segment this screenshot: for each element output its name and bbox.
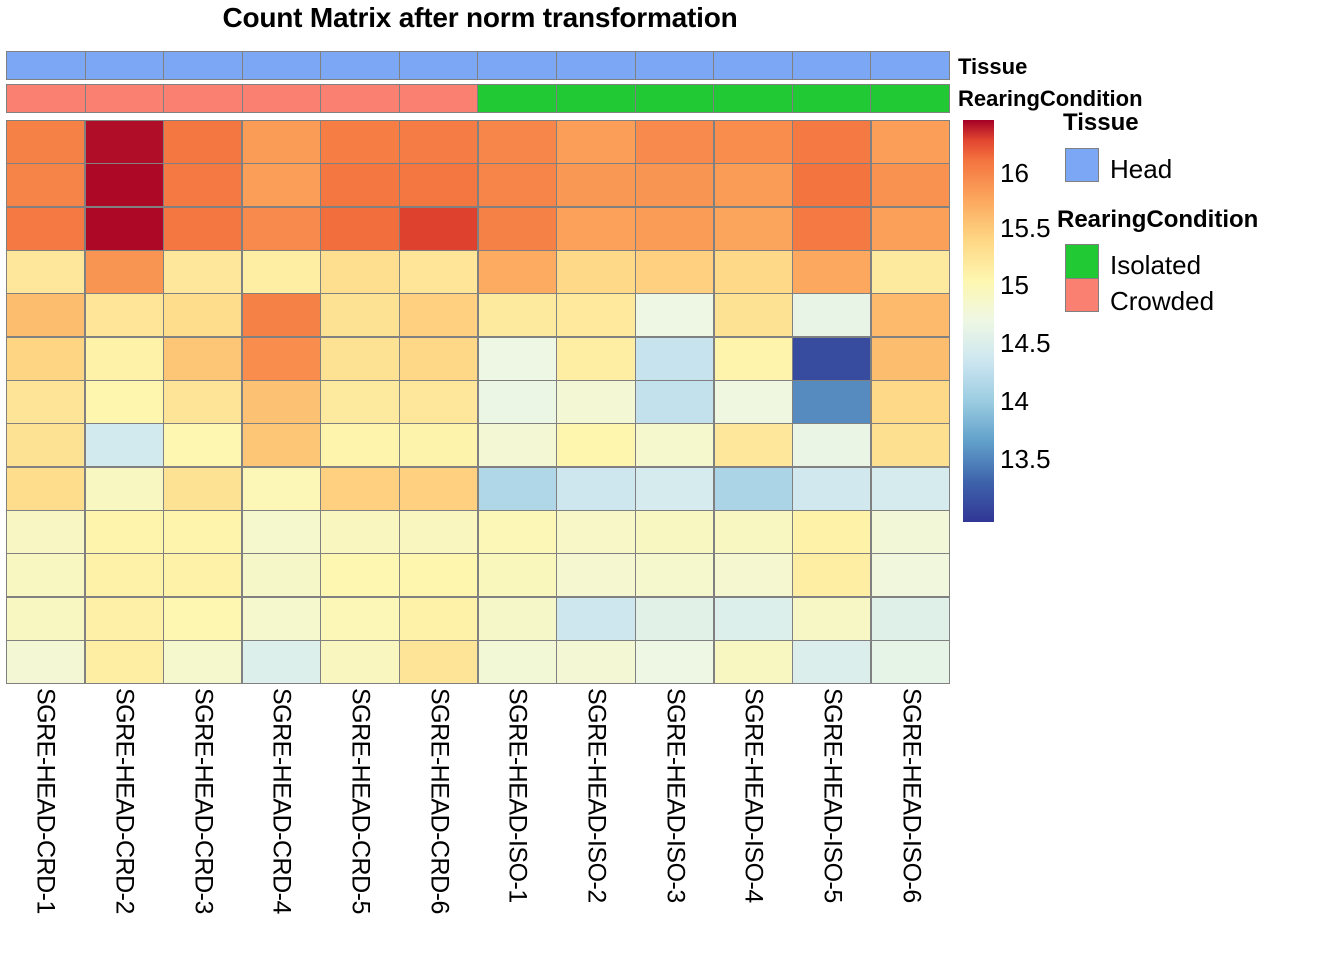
tissue-annotation-bar (6, 51, 950, 80)
heatmap-cell (872, 381, 949, 423)
colorbar-tick-label: 15.5 (1000, 215, 1051, 241)
heatmap-cell (479, 554, 556, 596)
heatmap-cell (321, 468, 398, 510)
heatmap-cell (400, 208, 477, 250)
heatmap-cell (793, 381, 870, 423)
heatmap-cell (7, 598, 84, 640)
heatmap-cell (636, 121, 713, 163)
heatmap-cell (793, 121, 870, 163)
heatmap-cell (400, 121, 477, 163)
heatmap-cell (164, 251, 241, 293)
heatmap-cell (243, 251, 320, 293)
heatmap-cell (715, 641, 792, 683)
heatmap-cell (793, 598, 870, 640)
colorbar-tick-label: 14.5 (1000, 330, 1051, 356)
heatmap-cell (86, 511, 163, 553)
heatmap-cell (243, 424, 320, 466)
heatmap-cell (479, 208, 556, 250)
heatmap-cell (557, 511, 634, 553)
column-label-slot: SGRE-HEAD-ISO-2 (557, 688, 636, 953)
column-label-slot: SGRE-HEAD-ISO-4 (714, 688, 793, 953)
heatmap-cell (321, 121, 398, 163)
heatmap-cell (86, 381, 163, 423)
column-label: SGRE-HEAD-CRD-6 (424, 688, 453, 914)
heatmap-cell (793, 251, 870, 293)
heatmap-cell (715, 554, 792, 596)
heatmap-cell (164, 338, 241, 380)
heatmap-cell (243, 381, 320, 423)
heatmap-cell (793, 164, 870, 206)
heatmap-cell (793, 554, 870, 596)
rearing-annotation-cell (557, 85, 636, 112)
tissue-annotation-cell (714, 52, 793, 79)
heatmap-cell (243, 121, 320, 163)
heatmap-cell (321, 251, 398, 293)
heatmap-cell (715, 121, 792, 163)
rearing-annotation-cell (871, 85, 949, 112)
tissue-legend-title: Tissue (1063, 111, 1139, 135)
heatmap-cell (715, 424, 792, 466)
heatmap-cell (872, 554, 949, 596)
heatmap-cell (400, 338, 477, 380)
legend-swatch-head[interactable] (1065, 148, 1099, 182)
heatmap-cell (636, 641, 713, 683)
heatmap-cell (7, 554, 84, 596)
column-label: SGRE-HEAD-ISO-5 (818, 688, 847, 903)
rearing-annotation-cell (86, 85, 165, 112)
column-label-slot: SGRE-HEAD-ISO-6 (871, 688, 950, 953)
heatmap-cell (557, 554, 634, 596)
heatmap-cell (243, 511, 320, 553)
heatmap-cell (479, 511, 556, 553)
heatmap-cell (400, 424, 477, 466)
heatmap-cell (243, 468, 320, 510)
heatmap-cell (636, 208, 713, 250)
colorbar-gradient (963, 120, 994, 522)
heatmap-cell (872, 294, 949, 336)
heatmap-cell (7, 338, 84, 380)
page-title: Count Matrix after norm transformation (0, 2, 960, 34)
heatmap-cell (400, 554, 477, 596)
heatmap-cell (400, 164, 477, 206)
heatmap-cell (872, 338, 949, 380)
heatmap-cell (243, 641, 320, 683)
legend-label-head: Head (1110, 156, 1172, 182)
heatmap-cell (86, 554, 163, 596)
heatmap-cell (400, 468, 477, 510)
heatmap-cell (636, 251, 713, 293)
heatmap-cell (557, 381, 634, 423)
heatmap-cell (164, 164, 241, 206)
heatmap-cell (479, 598, 556, 640)
heatmap-cell (164, 554, 241, 596)
tissue-annotation-cell (871, 52, 949, 79)
heatmap-cell (715, 208, 792, 250)
heatmap-cell (86, 251, 163, 293)
heatmap-cell (86, 121, 163, 163)
heatmap-cell (400, 511, 477, 553)
heatmap-cell (479, 424, 556, 466)
heatmap-cell (872, 121, 949, 163)
column-label-slot: SGRE-HEAD-ISO-5 (793, 688, 872, 953)
heatmap-cell (164, 598, 241, 640)
heatmap-cell (321, 511, 398, 553)
heatmap-cell (321, 164, 398, 206)
heatmap-cell (715, 338, 792, 380)
heatmap-cell (715, 598, 792, 640)
column-label-slot: SGRE-HEAD-CRD-4 (242, 688, 321, 953)
tissue-annotation-row-label: Tissue (958, 56, 1027, 78)
heatmap-cell (557, 338, 634, 380)
heatmap-cell (872, 598, 949, 640)
heatmap-cell (86, 468, 163, 510)
heatmap-cell (400, 251, 477, 293)
legend-label-isolated: Isolated (1110, 252, 1201, 278)
rearing-annotation-cell (714, 85, 793, 112)
heatmap-cell (557, 208, 634, 250)
heatmap-cell (7, 511, 84, 553)
heatmap-cell (243, 338, 320, 380)
heatmap-cell (636, 164, 713, 206)
heatmap-cell (872, 164, 949, 206)
heatmap-cell (872, 251, 949, 293)
colorbar-tick-label: 15 (1000, 272, 1029, 298)
heatmap-cell (557, 251, 634, 293)
heatmap-cell (557, 598, 634, 640)
heatmap-cell (321, 641, 398, 683)
heatmap-cell (164, 424, 241, 466)
column-label-slot: SGRE-HEAD-CRD-3 (163, 688, 242, 953)
heatmap-cell (715, 381, 792, 423)
heatmap-cell (715, 251, 792, 293)
heatmap-grid (6, 120, 950, 684)
heatmap-cell (164, 468, 241, 510)
rearing-annotation-cell (400, 85, 479, 112)
heatmap-cell (636, 381, 713, 423)
heatmap-cell (7, 208, 84, 250)
tissue-annotation-cell (243, 52, 322, 79)
heatmap-cell (872, 424, 949, 466)
rearing-annotation-cell (636, 85, 715, 112)
heatmap-cell (479, 121, 556, 163)
heatmap-cell (793, 338, 870, 380)
heatmap-cell (400, 641, 477, 683)
heatmap-plot: Count Matrix after norm transformation T… (0, 0, 1344, 960)
heatmap-cell (321, 294, 398, 336)
column-label: SGRE-HEAD-ISO-1 (503, 688, 532, 903)
tissue-annotation-cell (636, 52, 715, 79)
tissue-annotation-cell (400, 52, 479, 79)
colorbar-tick-label: 16 (1000, 160, 1029, 186)
heatmap-cell (793, 468, 870, 510)
heatmap-cell (557, 121, 634, 163)
heatmap-cell (715, 468, 792, 510)
heatmap-cell (872, 511, 949, 553)
heatmap-cell (793, 424, 870, 466)
heatmap-cell (7, 121, 84, 163)
heatmap-cell (86, 338, 163, 380)
heatmap-cell (479, 641, 556, 683)
heatmap-cell (86, 598, 163, 640)
heatmap-cell (636, 338, 713, 380)
column-labels: SGRE-HEAD-CRD-1SGRE-HEAD-CRD-2SGRE-HEAD-… (6, 688, 950, 953)
colorbar-tick-label: 14 (1000, 388, 1029, 414)
heatmap-cell (557, 468, 634, 510)
heatmap-cell (321, 424, 398, 466)
heatmap-cell (479, 468, 556, 510)
column-label-slot: SGRE-HEAD-CRD-1 (6, 688, 85, 953)
tissue-annotation-cell (793, 52, 872, 79)
heatmap-cell (636, 511, 713, 553)
heatmap-cell (636, 468, 713, 510)
heatmap-cell (7, 641, 84, 683)
heatmap-cell (321, 554, 398, 596)
heatmap-cell (321, 598, 398, 640)
heatmap-cell (164, 208, 241, 250)
heatmap-cell (479, 338, 556, 380)
heatmap-cell (715, 511, 792, 553)
tissue-annotation-cell (557, 52, 636, 79)
tissue-annotation-cell (86, 52, 165, 79)
column-label-slot: SGRE-HEAD-CRD-2 (85, 688, 164, 953)
heatmap-cell (164, 121, 241, 163)
column-label-slot: SGRE-HEAD-CRD-6 (399, 688, 478, 953)
heatmap-cell (321, 208, 398, 250)
heatmap-cell (557, 294, 634, 336)
heatmap-cell (86, 208, 163, 250)
tissue-annotation-cell (321, 52, 400, 79)
heatmap-cell (7, 164, 84, 206)
heatmap-cell (400, 598, 477, 640)
heatmap-cell (793, 294, 870, 336)
heatmap-cell (86, 164, 163, 206)
heatmap-cell (400, 294, 477, 336)
heatmap-cell (557, 641, 634, 683)
legend-label-crowded: Crowded (1110, 288, 1214, 314)
heatmap-cell (7, 424, 84, 466)
column-label-slot: SGRE-HEAD-CRD-5 (321, 688, 400, 953)
heatmap-cell (715, 164, 792, 206)
colorbar-tick-label: 13.5 (1000, 446, 1051, 472)
tissue-annotation-cell (164, 52, 243, 79)
rearing-annotation-cell (793, 85, 872, 112)
heatmap-cell (557, 424, 634, 466)
column-label: SGRE-HEAD-ISO-4 (739, 688, 768, 903)
heatmap-cell (243, 208, 320, 250)
rearing-annotation-cell (164, 85, 243, 112)
column-label: SGRE-HEAD-CRD-1 (31, 688, 60, 914)
heatmap-cell (557, 164, 634, 206)
column-label: SGRE-HEAD-CRD-2 (110, 688, 139, 914)
heatmap-cell (164, 294, 241, 336)
rearing-legend-title: RearingCondition (1057, 208, 1258, 232)
rearing-annotation-cell (7, 85, 86, 112)
heatmap-cell (164, 511, 241, 553)
heatmap-cell (243, 598, 320, 640)
heatmap-cell (793, 511, 870, 553)
legend-swatch-crowded[interactable] (1065, 278, 1099, 312)
heatmap-cell (243, 294, 320, 336)
heatmap-cell (7, 251, 84, 293)
heatmap-cell (479, 164, 556, 206)
rearing-annotation-cell (243, 85, 322, 112)
heatmap-cell (86, 424, 163, 466)
heatmap-cell (7, 468, 84, 510)
legend-swatch-isolated[interactable] (1065, 244, 1099, 278)
heatmap-cell (636, 294, 713, 336)
column-label-slot: SGRE-HEAD-ISO-3 (635, 688, 714, 953)
heatmap-cell (793, 641, 870, 683)
heatmap-cell (7, 381, 84, 423)
heatmap-cell (243, 164, 320, 206)
tissue-annotation-cell (7, 52, 86, 79)
heatmap-cell (479, 294, 556, 336)
heatmap-cell (243, 554, 320, 596)
heatmap-cell (86, 294, 163, 336)
heatmap-cell (164, 641, 241, 683)
heatmap-cell (872, 641, 949, 683)
heatmap-cell (715, 294, 792, 336)
heatmap-cell (479, 381, 556, 423)
column-label: SGRE-HEAD-CRD-3 (188, 688, 217, 914)
column-label: SGRE-HEAD-CRD-5 (346, 688, 375, 914)
heatmap-cell (872, 468, 949, 510)
column-label: SGRE-HEAD-ISO-6 (896, 688, 925, 903)
column-label: SGRE-HEAD-ISO-3 (660, 688, 689, 903)
tissue-annotation-cell (478, 52, 557, 79)
heatmap-cell (86, 641, 163, 683)
column-label: SGRE-HEAD-ISO-2 (582, 688, 611, 903)
heatmap-cell (872, 208, 949, 250)
column-label-slot: SGRE-HEAD-ISO-1 (478, 688, 557, 953)
heatmap-cell (164, 381, 241, 423)
heatmap-cell (793, 208, 870, 250)
heatmap-cell (321, 381, 398, 423)
heatmap-cell (400, 381, 477, 423)
heatmap-cell (636, 554, 713, 596)
rearing-annotation-row-label: RearingCondition (958, 88, 1143, 110)
rearing-condition-annotation-bar (6, 84, 950, 113)
heatmap-cell (636, 598, 713, 640)
heatmap-cell (479, 251, 556, 293)
rearing-annotation-cell (478, 85, 557, 112)
heatmap-cell (7, 294, 84, 336)
heatmap-cell (321, 338, 398, 380)
heatmap-cell (636, 424, 713, 466)
rearing-annotation-cell (321, 85, 400, 112)
column-label: SGRE-HEAD-CRD-4 (267, 688, 296, 914)
